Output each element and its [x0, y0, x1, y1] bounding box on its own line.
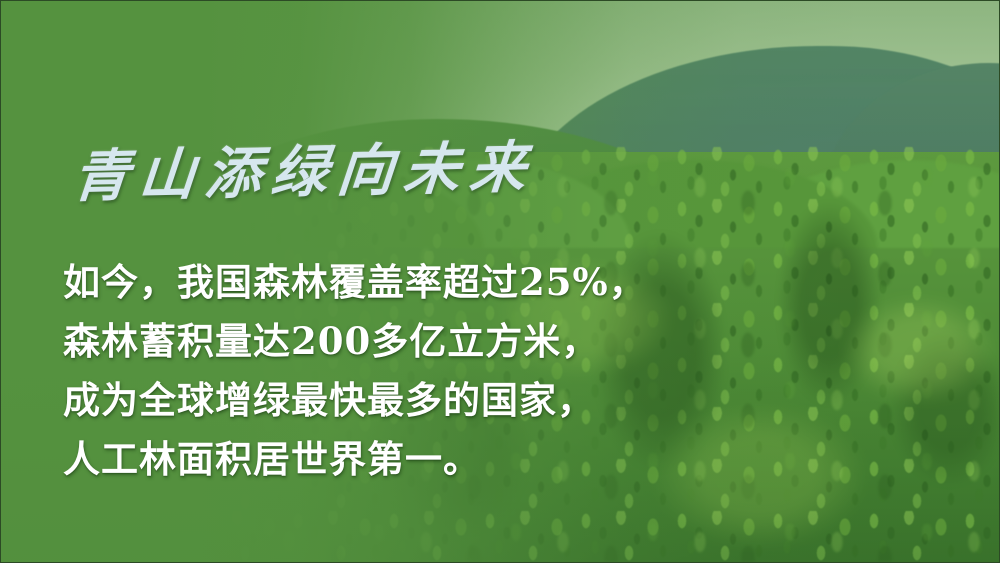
page-title: 青山添绿向未来 [71, 139, 539, 205]
body-line-3: 成为全球增绿最快最多的国家， [63, 371, 647, 430]
body-paragraph: 如今，我国森林覆盖率超过25%， 森林蓄积量达200多亿立方米， 成为全球增绿最… [63, 253, 647, 489]
text-content: 青山添绿向未来 如今，我国森林覆盖率超过25%， 森林蓄积量达200多亿立方米，… [1, 1, 999, 562]
slide-root: 青山添绿向未来 如今，我国森林覆盖率超过25%， 森林蓄积量达200多亿立方米，… [0, 0, 1000, 563]
body-line-4: 人工林面积居世界第一。 [63, 430, 647, 489]
body-line-1: 如今，我国森林覆盖率超过25%， [63, 253, 647, 312]
body-line-2: 森林蓄积量达200多亿立方米， [63, 312, 647, 371]
